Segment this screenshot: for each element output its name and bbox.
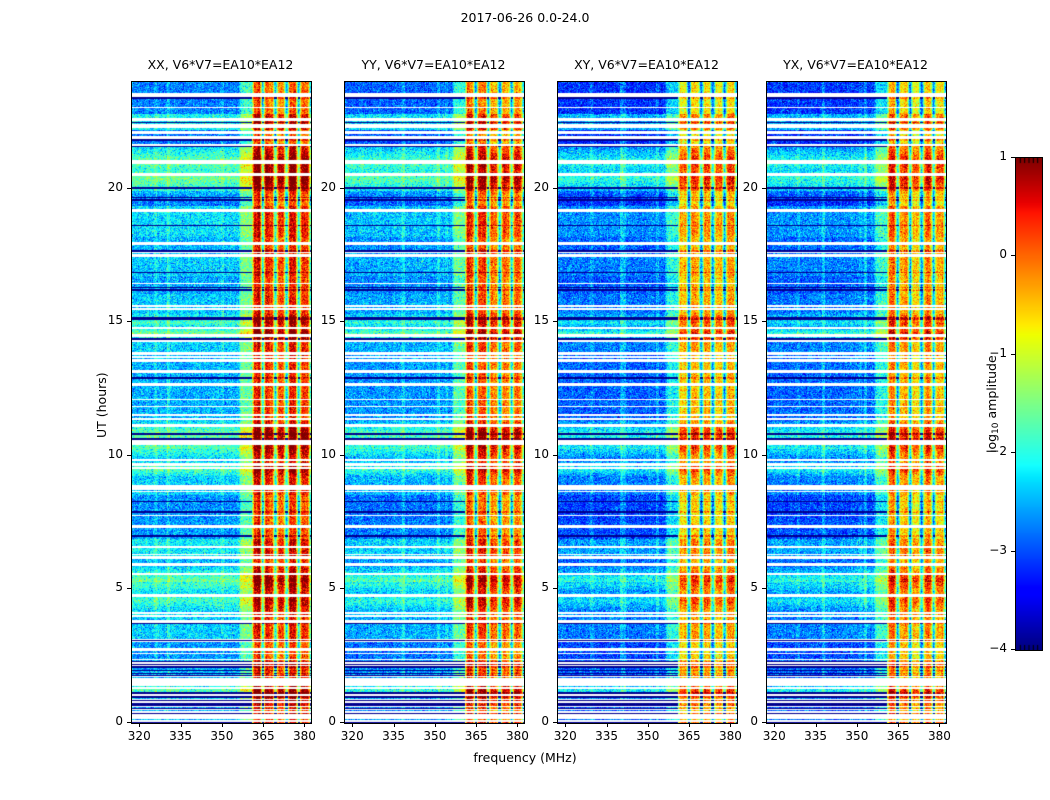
dynamic-spectrum-xx[interactable] [131, 81, 312, 724]
y-tickmark [553, 188, 557, 189]
colorbar-tick-label: −4 [971, 641, 1007, 655]
x-tick-label: 365 [880, 729, 916, 743]
y-tickmark [127, 588, 131, 589]
x-tick-label: 335 [589, 729, 625, 743]
x-tickmark [565, 723, 566, 727]
x-tick-label: 350 [417, 729, 453, 743]
x-tick-label: 380 [712, 729, 748, 743]
colorbar-label-text: log10 amplitude [984, 355, 999, 453]
x-tick-label: 350 [630, 729, 666, 743]
y-tick-label: 15 [722, 313, 758, 327]
panel-title-yy: YY, V6*V7=EA10*EA12 [314, 57, 553, 72]
figure-suptitle: 2017-06-26 0.0-24.0 [0, 10, 1050, 25]
x-tickmark [222, 723, 223, 727]
x-tick-label: 380 [921, 729, 957, 743]
spectrogram-canvas-yx [767, 82, 946, 723]
x-tick-label: 335 [163, 729, 199, 743]
x-tick-label: 335 [376, 729, 412, 743]
x-axis-label: frequency (MHz) [0, 750, 1050, 765]
y-tickmark [762, 722, 766, 723]
x-tick-label: 365 [245, 729, 281, 743]
x-tickmark [394, 723, 395, 727]
y-tickmark [127, 321, 131, 322]
y-tick-label: 15 [513, 313, 549, 327]
x-tick-label: 365 [458, 729, 494, 743]
y-tick-label: 20 [300, 180, 336, 194]
x-tickmark [816, 723, 817, 727]
x-tickmark [648, 723, 649, 727]
y-tick-label: 0 [87, 714, 123, 728]
y-tickmark [127, 722, 131, 723]
x-tick-label: 380 [286, 729, 322, 743]
y-tick-label: 5 [300, 580, 336, 594]
dynamic-spectrum-yx[interactable] [766, 81, 947, 724]
x-tick-label: 320 [334, 729, 370, 743]
y-tick-label: 5 [722, 580, 758, 594]
colorbar-tick-label: 0 [971, 247, 1007, 261]
x-tickmark [689, 723, 690, 727]
y-tick-label: 15 [300, 313, 336, 327]
colorbar-tickmark [1011, 649, 1015, 650]
y-tickmark [762, 455, 766, 456]
y-tickmark [762, 321, 766, 322]
y-tick-label: 5 [513, 580, 549, 594]
y-tick-label: 10 [722, 447, 758, 461]
x-tickmark [435, 723, 436, 727]
y-tickmark [340, 455, 344, 456]
colorbar-label: log10 amplitude [984, 355, 1001, 453]
x-tick-label: 320 [756, 729, 792, 743]
x-tickmark [939, 723, 940, 727]
x-tickmark [857, 723, 858, 727]
x-tickmark [774, 723, 775, 727]
colorbar-tick-label: 1 [971, 149, 1007, 163]
y-tick-label: 0 [722, 714, 758, 728]
y-tick-label: 5 [87, 580, 123, 594]
x-tick-label: 335 [798, 729, 834, 743]
x-tickmark [263, 723, 264, 727]
y-axis-label: UT (hours) [94, 372, 109, 438]
y-tickmark [340, 588, 344, 589]
y-tick-label: 15 [87, 313, 123, 327]
y-tickmark [553, 588, 557, 589]
x-tickmark [181, 723, 182, 727]
colorbar-gradient [1016, 158, 1042, 650]
spectrogram-canvas-xx [132, 82, 311, 723]
panel-title-yx: YX, V6*V7=EA10*EA12 [736, 57, 975, 72]
y-tick-label: 0 [300, 714, 336, 728]
y-tick-label: 20 [87, 180, 123, 194]
y-tickmark [553, 722, 557, 723]
spectrogram-canvas-xy [558, 82, 737, 723]
y-tick-label: 10 [513, 447, 549, 461]
x-tick-label: 320 [547, 729, 583, 743]
colorbar [1015, 157, 1043, 651]
y-tickmark [553, 455, 557, 456]
y-tick-label: 0 [513, 714, 549, 728]
x-tickmark [607, 723, 608, 727]
panel-title-xx: XX, V6*V7=EA10*EA12 [101, 57, 340, 72]
y-tickmark [340, 188, 344, 189]
y-tick-label: 20 [722, 180, 758, 194]
colorbar-tickmark [1011, 551, 1015, 552]
colorbar-tickmark [1011, 452, 1015, 453]
y-tickmark [340, 722, 344, 723]
dynamic-spectrum-yy[interactable] [344, 81, 525, 724]
x-tickmark [476, 723, 477, 727]
y-tick-label: 10 [300, 447, 336, 461]
y-tickmark [762, 188, 766, 189]
y-tickmark [553, 321, 557, 322]
y-tickmark [127, 188, 131, 189]
y-tickmark [340, 321, 344, 322]
colorbar-tickmark [1011, 354, 1015, 355]
x-tickmark [352, 723, 353, 727]
spectrogram-canvas-yy [345, 82, 524, 723]
panel-title-xy: XY, V6*V7=EA10*EA12 [527, 57, 766, 72]
x-tick-label: 365 [671, 729, 707, 743]
y-tick-label: 10 [87, 447, 123, 461]
colorbar-tickmark [1011, 255, 1015, 256]
y-tickmark [127, 455, 131, 456]
y-tick-label: 20 [513, 180, 549, 194]
x-tickmark [139, 723, 140, 727]
x-tick-label: 350 [839, 729, 875, 743]
x-tick-label: 320 [121, 729, 157, 743]
colorbar-tick-label: −3 [971, 543, 1007, 557]
y-tickmark [762, 588, 766, 589]
dynamic-spectrum-xy[interactable] [557, 81, 738, 724]
x-tick-label: 350 [204, 729, 240, 743]
x-tickmark [898, 723, 899, 727]
colorbar-tickmark [1011, 157, 1015, 158]
x-tick-label: 380 [499, 729, 535, 743]
